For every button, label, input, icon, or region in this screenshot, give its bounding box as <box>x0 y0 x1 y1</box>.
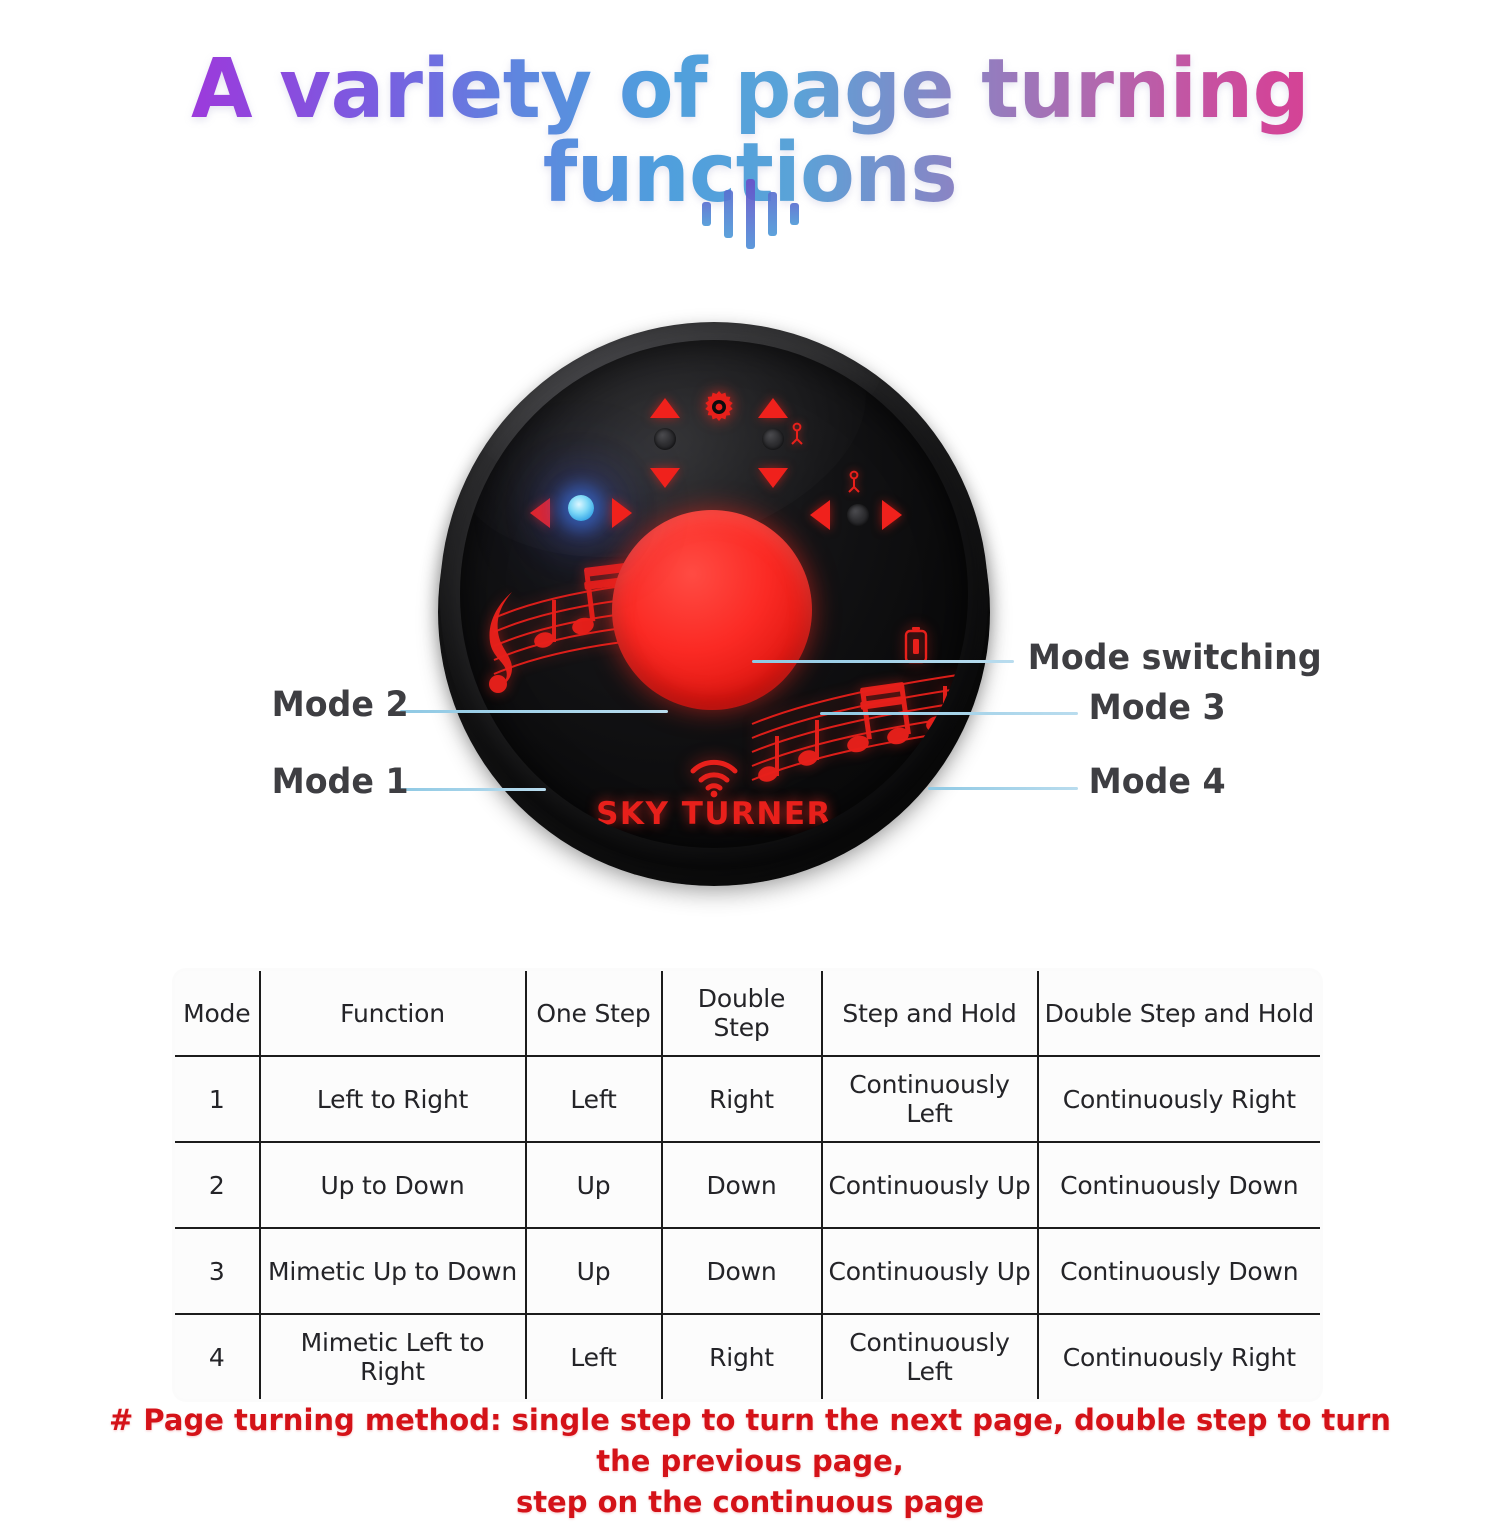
device-face: SKY TURNER <box>460 340 968 848</box>
table-row: 4 Mimetic Left to Right Left Right Conti… <box>174 1314 1322 1401</box>
table-cell: Continuously Up <box>822 1228 1038 1314</box>
mode-4-led <box>847 504 869 526</box>
table-cell: 2 <box>174 1142 260 1228</box>
callout-leader-mode-4 <box>928 787 1078 790</box>
table-cell: Continuously Left <box>822 1314 1038 1401</box>
table-cell: Right <box>662 1056 822 1142</box>
arrow-up-icon[interactable] <box>758 398 788 418</box>
mode-1-led <box>568 495 594 521</box>
callout-leader-mode-2 <box>400 710 668 713</box>
mode-2-button-cluster[interactable] <box>645 398 685 508</box>
arrow-left-icon[interactable] <box>530 498 550 528</box>
table-cell: 1 <box>174 1056 260 1142</box>
mimetic-glyph-icon <box>789 422 805 448</box>
table-cell: Left to Right <box>260 1056 526 1142</box>
table-cell: Left <box>526 1056 662 1142</box>
table-header-cell: Double Step <box>662 970 822 1057</box>
mode-function-table-wrapper: Mode Function One Step Double Step Step … <box>172 968 1320 1402</box>
table-row: 2 Up to Down Up Down Continuously Up Con… <box>174 1142 1322 1228</box>
table-cell: Mimetic Up to Down <box>260 1228 526 1314</box>
mode-2-led <box>654 428 676 450</box>
waveform-bar <box>746 179 755 249</box>
table-cell: Down <box>662 1142 822 1228</box>
table-header-cell: Mode <box>174 970 260 1057</box>
sky-turner-device: SKY TURNER <box>434 316 994 876</box>
brand-logo-text: SKY TURNER <box>460 796 968 832</box>
mode-3-button-cluster[interactable] <box>753 398 813 508</box>
callout-leader-mode-switching <box>752 660 1014 663</box>
mode-4-button-cluster[interactable] <box>810 470 930 540</box>
product-illustration: SKY TURNER Mode 2 Mode 1 Mode switching … <box>0 300 1500 940</box>
table-row: 3 Mimetic Up to Down Up Down Continuousl… <box>174 1228 1322 1314</box>
wifi-icon <box>688 758 740 798</box>
table-cell: Up <box>526 1142 662 1228</box>
table-header-cell: Double Step and Hold <box>1038 970 1322 1057</box>
battery-icon <box>903 626 929 664</box>
table-cell: Left <box>526 1314 662 1401</box>
table-cell: Continuously Down <box>1038 1228 1322 1314</box>
table-cell: 4 <box>174 1314 260 1401</box>
table-header-row: Mode Function One Step Double Step Step … <box>174 970 1322 1057</box>
footer-line-2: step on the continuous page <box>100 1482 1400 1523</box>
callout-leader-mode-3 <box>820 712 1078 715</box>
table-cell: Up <box>526 1228 662 1314</box>
mode-1-button-cluster[interactable] <box>530 493 650 533</box>
arrow-right-icon[interactable] <box>882 500 902 530</box>
main-step-button[interactable] <box>612 510 812 710</box>
waveform-bar <box>768 192 777 236</box>
callout-label-mode-4: Mode 4 <box>1089 762 1226 802</box>
footer-note: # Page turning method: single step to tu… <box>100 1400 1400 1524</box>
arrow-left-icon[interactable] <box>810 500 830 530</box>
table-cell: Up to Down <box>260 1142 526 1228</box>
arrow-up-icon[interactable] <box>650 398 680 418</box>
mimetic-glyph-icon <box>846 470 862 496</box>
table-cell: Continuously Left <box>822 1056 1038 1142</box>
table-header-cell: Function <box>260 970 526 1057</box>
table-cell: Continuously Right <box>1038 1314 1322 1401</box>
callout-label-mode-2: Mode 2 <box>272 685 409 725</box>
audio-waveform-icon <box>0 178 1500 250</box>
waveform-bar <box>790 203 799 225</box>
table-row: 1 Left to Right Left Right Continuously … <box>174 1056 1322 1142</box>
callout-label-mode-switching: Mode switching <box>1028 638 1322 678</box>
waveform-bar <box>724 190 733 238</box>
gear-icon[interactable] <box>702 390 736 424</box>
table-cell: Continuously Right <box>1038 1056 1322 1142</box>
callout-label-mode-1: Mode 1 <box>272 762 409 802</box>
mode-3-led <box>762 428 784 450</box>
table-cell: Right <box>662 1314 822 1401</box>
arrow-right-icon[interactable] <box>612 498 632 528</box>
arrow-down-icon[interactable] <box>650 468 680 488</box>
table-cell: Down <box>662 1228 822 1314</box>
table-cell: Mimetic Left to Right <box>260 1314 526 1401</box>
table-header-cell: One Step <box>526 970 662 1057</box>
table-header-cell: Step and Hold <box>822 970 1038 1057</box>
table-cell: Continuously Up <box>822 1142 1038 1228</box>
footer-line-1: # Page turning method: single step to tu… <box>100 1400 1400 1482</box>
mode-function-table: Mode Function One Step Double Step Step … <box>172 968 1323 1402</box>
waveform-bar <box>702 202 711 226</box>
callout-label-mode-3: Mode 3 <box>1089 688 1226 728</box>
callout-leader-mode-1 <box>398 788 546 791</box>
table-cell: 3 <box>174 1228 260 1314</box>
table-cell: Continuously Down <box>1038 1142 1322 1228</box>
arrow-down-icon[interactable] <box>758 468 788 488</box>
